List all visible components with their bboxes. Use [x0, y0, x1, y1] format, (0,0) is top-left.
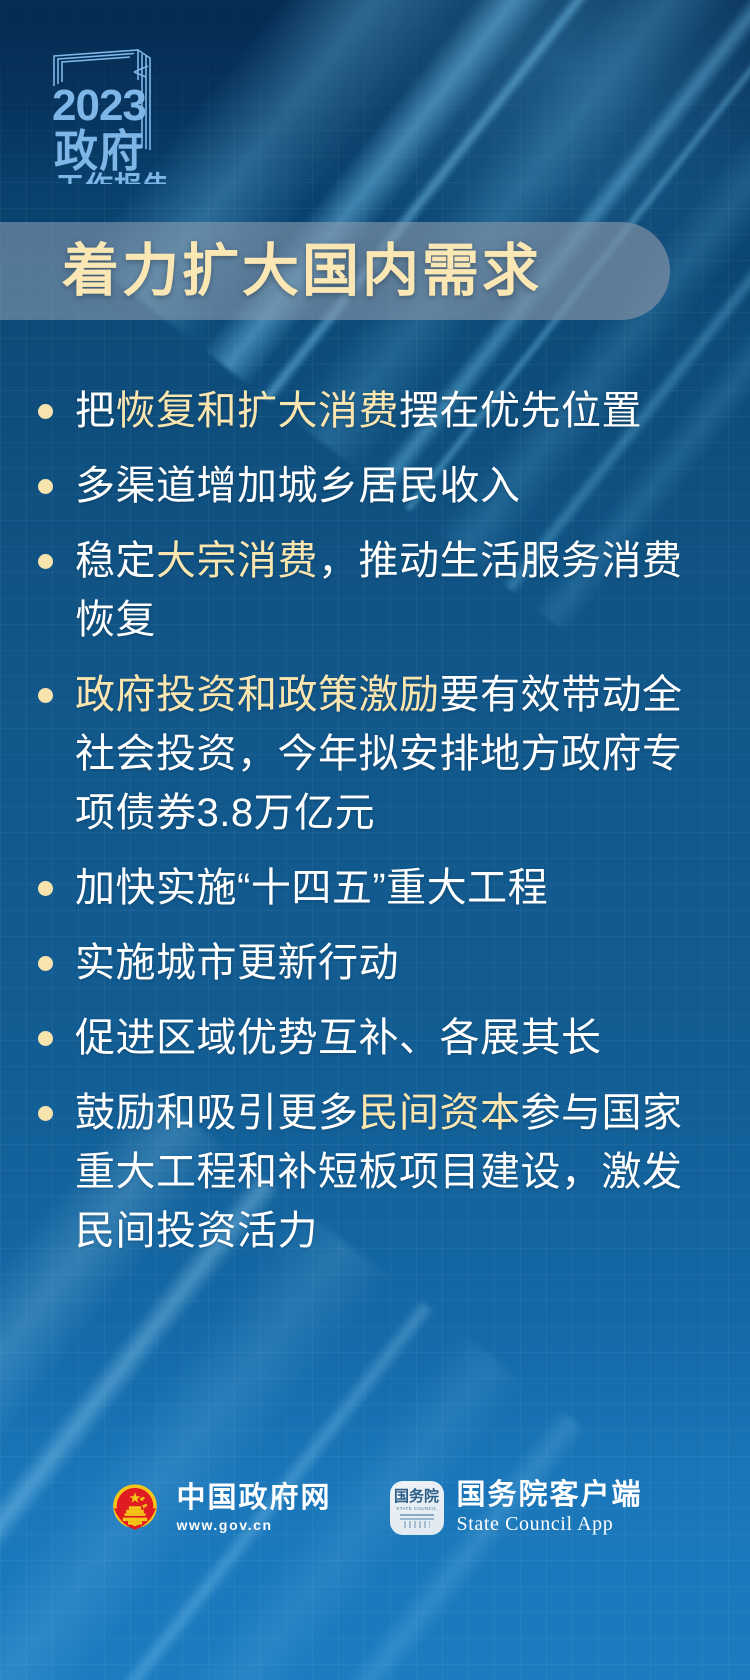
list-item: 实施城市更新行动 [38, 934, 718, 993]
svg-text:工作报告: 工作报告 [56, 171, 166, 184]
bullet-list: 把恢复和扩大消费摆在优先位置多渠道增加城乡居民收入稳定大宗消费，推动生活服务消费… [38, 382, 718, 1277]
highlighted-phrase: 恢复和扩大消费 [116, 389, 400, 433]
report-logo: 2023 政府 工作报告 [46, 44, 166, 184]
list-item-text: 政府投资和政策激励要有效带动全社会投资，今年拟安排地方政府专项债券3.8万亿元 [75, 666, 718, 843]
bullet-dot-icon [38, 881, 53, 896]
bullet-dot-icon [38, 1106, 53, 1121]
poster-root: 2023 政府 工作报告 着力扩大国内需求 把恢复和扩大消费摆在优先位置多渠道增… [0, 0, 750, 1680]
list-item: 促进区域优势互补、各展其长 [38, 1009, 718, 1068]
tiananmen-gate-icon [400, 1514, 434, 1528]
bullet-dot-icon [38, 554, 53, 569]
list-item: 加快实施“十四五”重大工程 [38, 859, 718, 918]
list-item-text: 实施城市更新行动 [75, 934, 718, 993]
bullet-dot-icon [38, 404, 53, 419]
svg-text:2023: 2023 [52, 81, 146, 130]
bullet-dot-icon [38, 1031, 53, 1046]
plain-phrase: 把 [75, 389, 116, 433]
list-item-text: 加快实施“十四五”重大工程 [75, 859, 718, 918]
national-emblem-icon [107, 1480, 163, 1536]
page-title: 着力扩大国内需求 [62, 243, 542, 300]
list-item-text: 鼓励和吸引更多民间资本参与国家重大工程和补短板项目建设，激发民间投资活力 [75, 1084, 718, 1261]
list-item-text: 促进区域优势互补、各展其长 [75, 1009, 718, 1068]
state-council-name-cn: 国务院客户端 [457, 1480, 643, 1511]
footer: 中国政府网 www.gov.cn 国务院 STATE COUNCIL 国务院客户… [0, 1480, 750, 1536]
plain-phrase: 稳定 [75, 539, 156, 583]
plain-phrase: 鼓励和吸引更多 [75, 1091, 359, 1135]
plain-phrase: 摆在优先位置 [399, 389, 642, 433]
list-item-text: 把恢复和扩大消费摆在优先位置 [75, 382, 718, 441]
list-item: 鼓励和吸引更多民间资本参与国家重大工程和补短板项目建设，激发民间投资活力 [38, 1084, 718, 1261]
state-council-app-icon: 国务院 STATE COUNCIL [390, 1481, 444, 1535]
svg-text:政府: 政府 [54, 127, 144, 176]
book-icon: 2023 政府 工作报告 [46, 44, 166, 184]
list-item: 稳定大宗消费，推动生活服务消费恢复 [38, 532, 718, 650]
highlighted-phrase: 民间资本 [359, 1091, 521, 1135]
highlighted-phrase: 大宗消费 [156, 539, 318, 583]
plain-phrase: 多渠道增加城乡居民收入 [75, 464, 521, 508]
state-council-name-en: State Council App [457, 1513, 643, 1536]
bullet-dot-icon [38, 956, 53, 971]
plain-phrase: 实施城市更新行动 [75, 941, 399, 985]
bullet-dot-icon [38, 479, 53, 494]
list-item-text: 稳定大宗消费，推动生活服务消费恢复 [75, 532, 718, 650]
list-item: 政府投资和政策激励要有效带动全社会投资，今年拟安排地方政府专项债券3.8万亿元 [38, 666, 718, 843]
list-item: 把恢复和扩大消费摆在优先位置 [38, 382, 718, 441]
gov-cn-logo[interactable]: 中国政府网 www.gov.cn [107, 1480, 331, 1536]
title-banner: 着力扩大国内需求 [0, 222, 670, 320]
gov-cn-url: www.gov.cn [176, 1517, 331, 1533]
highlighted-phrase: 政府投资和政策激励 [75, 673, 440, 717]
list-item: 多渠道增加城乡居民收入 [38, 457, 718, 516]
gov-cn-name: 中国政府网 [176, 1483, 331, 1514]
bullet-dot-icon [38, 688, 53, 703]
app-icon-cn-label: 国务院 [394, 1489, 439, 1504]
list-item-text: 多渠道增加城乡居民收入 [75, 457, 718, 516]
plain-phrase: 加快实施“十四五”重大工程 [75, 866, 548, 910]
plain-phrase: 促进区域优势互补、各展其长 [75, 1016, 602, 1060]
state-council-app-logo[interactable]: 国务院 STATE COUNCIL 国务院客户端 State Council A… [390, 1480, 643, 1536]
app-icon-en-label: STATE COUNCIL [396, 1506, 437, 1511]
